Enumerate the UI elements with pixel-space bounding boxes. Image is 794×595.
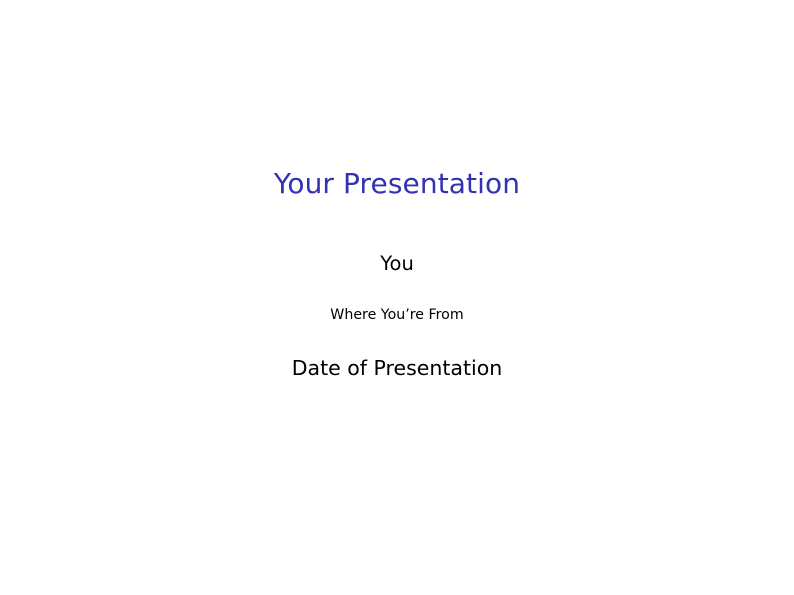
presentation-author: You xyxy=(0,254,794,274)
titlepage-block: Your Presentation You Where You’re From … xyxy=(0,170,794,378)
presentation-date: Date of Presentation xyxy=(0,358,794,379)
presentation-title: Your Presentation xyxy=(0,170,794,198)
presentation-slide: Your Presentation You Where You’re From … xyxy=(0,0,794,595)
presentation-institute: Where You’re From xyxy=(0,308,794,322)
